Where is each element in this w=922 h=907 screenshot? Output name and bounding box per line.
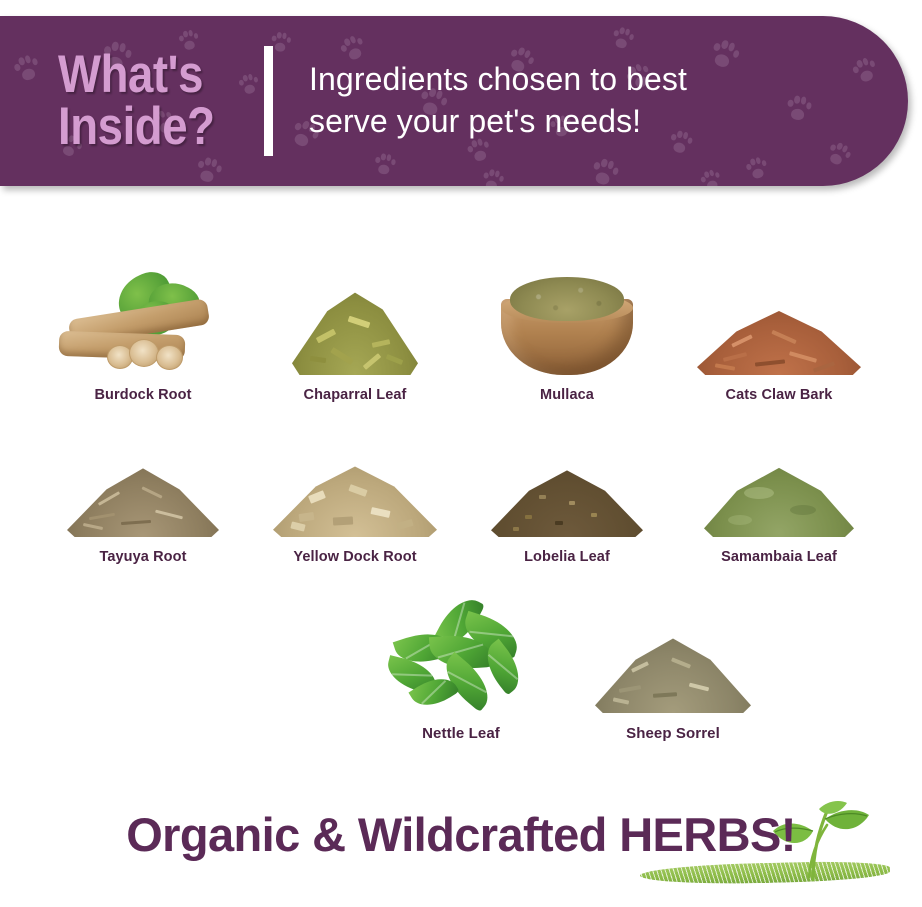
ingredient-label: Tayuya Root: [99, 549, 186, 565]
samambaia-leaf-icon: [684, 425, 874, 537]
ingredient-item-mullaca: Mullaca: [461, 263, 673, 403]
lobelia-leaf-icon: [472, 425, 662, 537]
ingredient-label: Burdock Root: [94, 387, 191, 403]
sheep-sorrel-icon: [578, 587, 768, 713]
nettle-leaf-icon: [366, 587, 556, 713]
yellow-dock-root-icon: [260, 425, 450, 537]
ingredient-item-yellow-dock-root: Yellow Dock Root: [249, 425, 461, 565]
page-title: What's Inside?: [58, 49, 215, 154]
ingredient-label: Nettle Leaf: [422, 725, 500, 742]
footer: Organic & Wildcrafted HERBS!: [0, 801, 922, 901]
ingredient-row: Tayuya Root Yellow Dock Root: [0, 403, 922, 565]
burdock-root-icon: [48, 263, 238, 375]
cats-claw-bark-icon: [684, 263, 874, 375]
title-divider: [264, 46, 273, 156]
ingredient-item-burdock-root: Burdock Root: [37, 263, 249, 403]
ingredient-label: Sheep Sorrel: [626, 725, 720, 742]
mullaca-bowl-icon: [472, 263, 662, 375]
banner-surface: What's Inside? Ingredients chosen to bes…: [0, 16, 908, 186]
ingredient-label: Cats Claw Bark: [726, 387, 833, 403]
ingredient-grid: Burdock Root Chaparral Leaf: [0, 255, 922, 742]
ingredient-item-cats-claw-bark: Cats Claw Bark: [673, 263, 885, 403]
ingredient-item-tayuya-root: Tayuya Root: [37, 425, 249, 565]
ingredient-label: Samambaia Leaf: [721, 549, 837, 565]
chaparral-leaf-icon: [260, 263, 450, 375]
footer-tagline: Organic & Wildcrafted HERBS!: [126, 807, 796, 862]
ingredient-row: Burdock Root Chaparral Leaf: [0, 255, 922, 403]
ingredient-item-nettle-leaf: Nettle Leaf: [355, 587, 567, 742]
ingredient-item-sheep-sorrel: Sheep Sorrel: [567, 587, 779, 742]
tayuya-root-icon: [48, 425, 238, 537]
ingredient-row: Nettle Leaf Sheep Sorrel: [0, 565, 922, 742]
ingredient-label: Yellow Dock Root: [293, 549, 416, 565]
ingredient-label: Chaparral Leaf: [304, 387, 407, 403]
ingredient-item-samambaia-leaf: Samambaia Leaf: [673, 425, 885, 565]
ingredient-item-chaparral-leaf: Chaparral Leaf: [249, 263, 461, 403]
header-subtitle: Ingredients chosen to best serve your pe…: [309, 59, 687, 142]
ingredient-label: Mullaca: [540, 387, 594, 403]
ingredient-item-lobelia-leaf: Lobelia Leaf: [461, 425, 673, 565]
header-banner: What's Inside? Ingredients chosen to bes…: [0, 16, 908, 186]
ingredient-label: Lobelia Leaf: [524, 549, 610, 565]
